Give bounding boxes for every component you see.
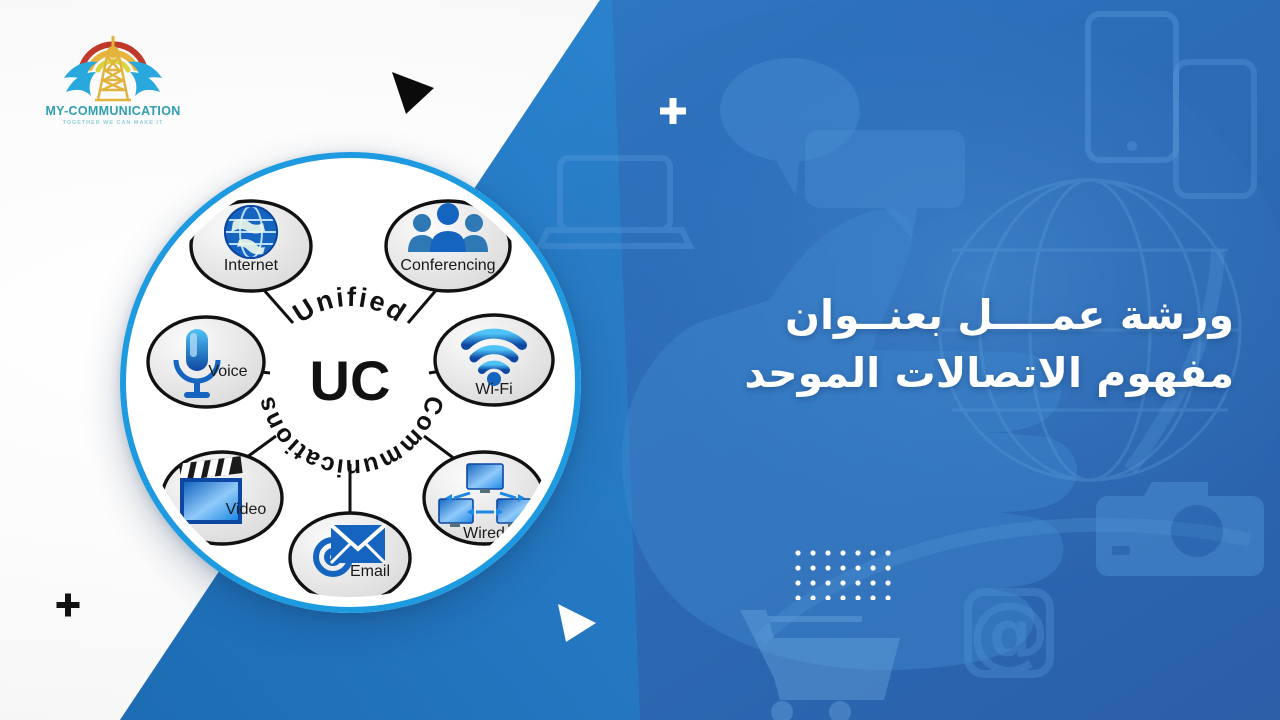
uc-circle-inner: Unified Communications UC xyxy=(136,168,565,597)
dot-grid xyxy=(795,550,891,600)
uc-node-wired[interactable]: Wired xyxy=(424,452,544,544)
brand-name: MY-COMMUNICATION xyxy=(28,104,198,118)
banner-stage: @ xyxy=(0,0,1280,720)
brand-logo[interactable]: MY-COMMUNICATION TOGETHER WE CAN MAKE IT xyxy=(28,22,198,134)
uc-node-label: Internet xyxy=(224,257,279,274)
uc-node-internet[interactable]: Internet xyxy=(191,201,311,291)
camera-icon xyxy=(1096,482,1264,576)
uc-node-label: Wired xyxy=(463,525,505,542)
globe-icon xyxy=(225,206,277,258)
plus-marker-black xyxy=(55,592,81,618)
at-symbol-icon: @ xyxy=(968,585,1050,680)
winged-tower-icon xyxy=(58,22,168,104)
plus-marker-white xyxy=(658,96,688,126)
brand-tagline: TOGETHER WE CAN MAKE IT xyxy=(28,120,198,126)
uc-node-wifi[interactable]: Wi-Fi xyxy=(435,315,553,405)
uc-node-email[interactable]: Email xyxy=(290,513,410,597)
uc-node-voice[interactable]: Voice xyxy=(148,317,264,407)
triangle-marker-black xyxy=(388,64,440,118)
headline-line-1: ورشة عمــــل بعنــوان xyxy=(614,288,1234,342)
uc-arc-text-top: Unified xyxy=(288,282,413,329)
uc-diagram-circle: Unified Communications UC xyxy=(108,140,593,625)
uc-node-label: Wi-Fi xyxy=(475,381,512,398)
uc-node-video[interactable]: Video xyxy=(162,452,282,544)
uc-node-label: Conferencing xyxy=(400,257,495,274)
headline: ورشة عمــــل بعنــوان مفهوم الاتصالات ال… xyxy=(614,288,1234,400)
svg-text:@: @ xyxy=(968,585,1050,680)
uc-node-label: Video xyxy=(226,501,267,518)
unified-communications-graphic: Unified Communications UC xyxy=(136,168,565,597)
uc-node-label: Email xyxy=(350,563,390,580)
uc-center-label: UC xyxy=(310,349,391,412)
headline-line-2: مفهوم الاتصالات الموحد xyxy=(614,346,1234,400)
uc-node-conferencing[interactable]: Conferencing xyxy=(386,201,510,291)
uc-node-label: Voice xyxy=(208,363,247,380)
